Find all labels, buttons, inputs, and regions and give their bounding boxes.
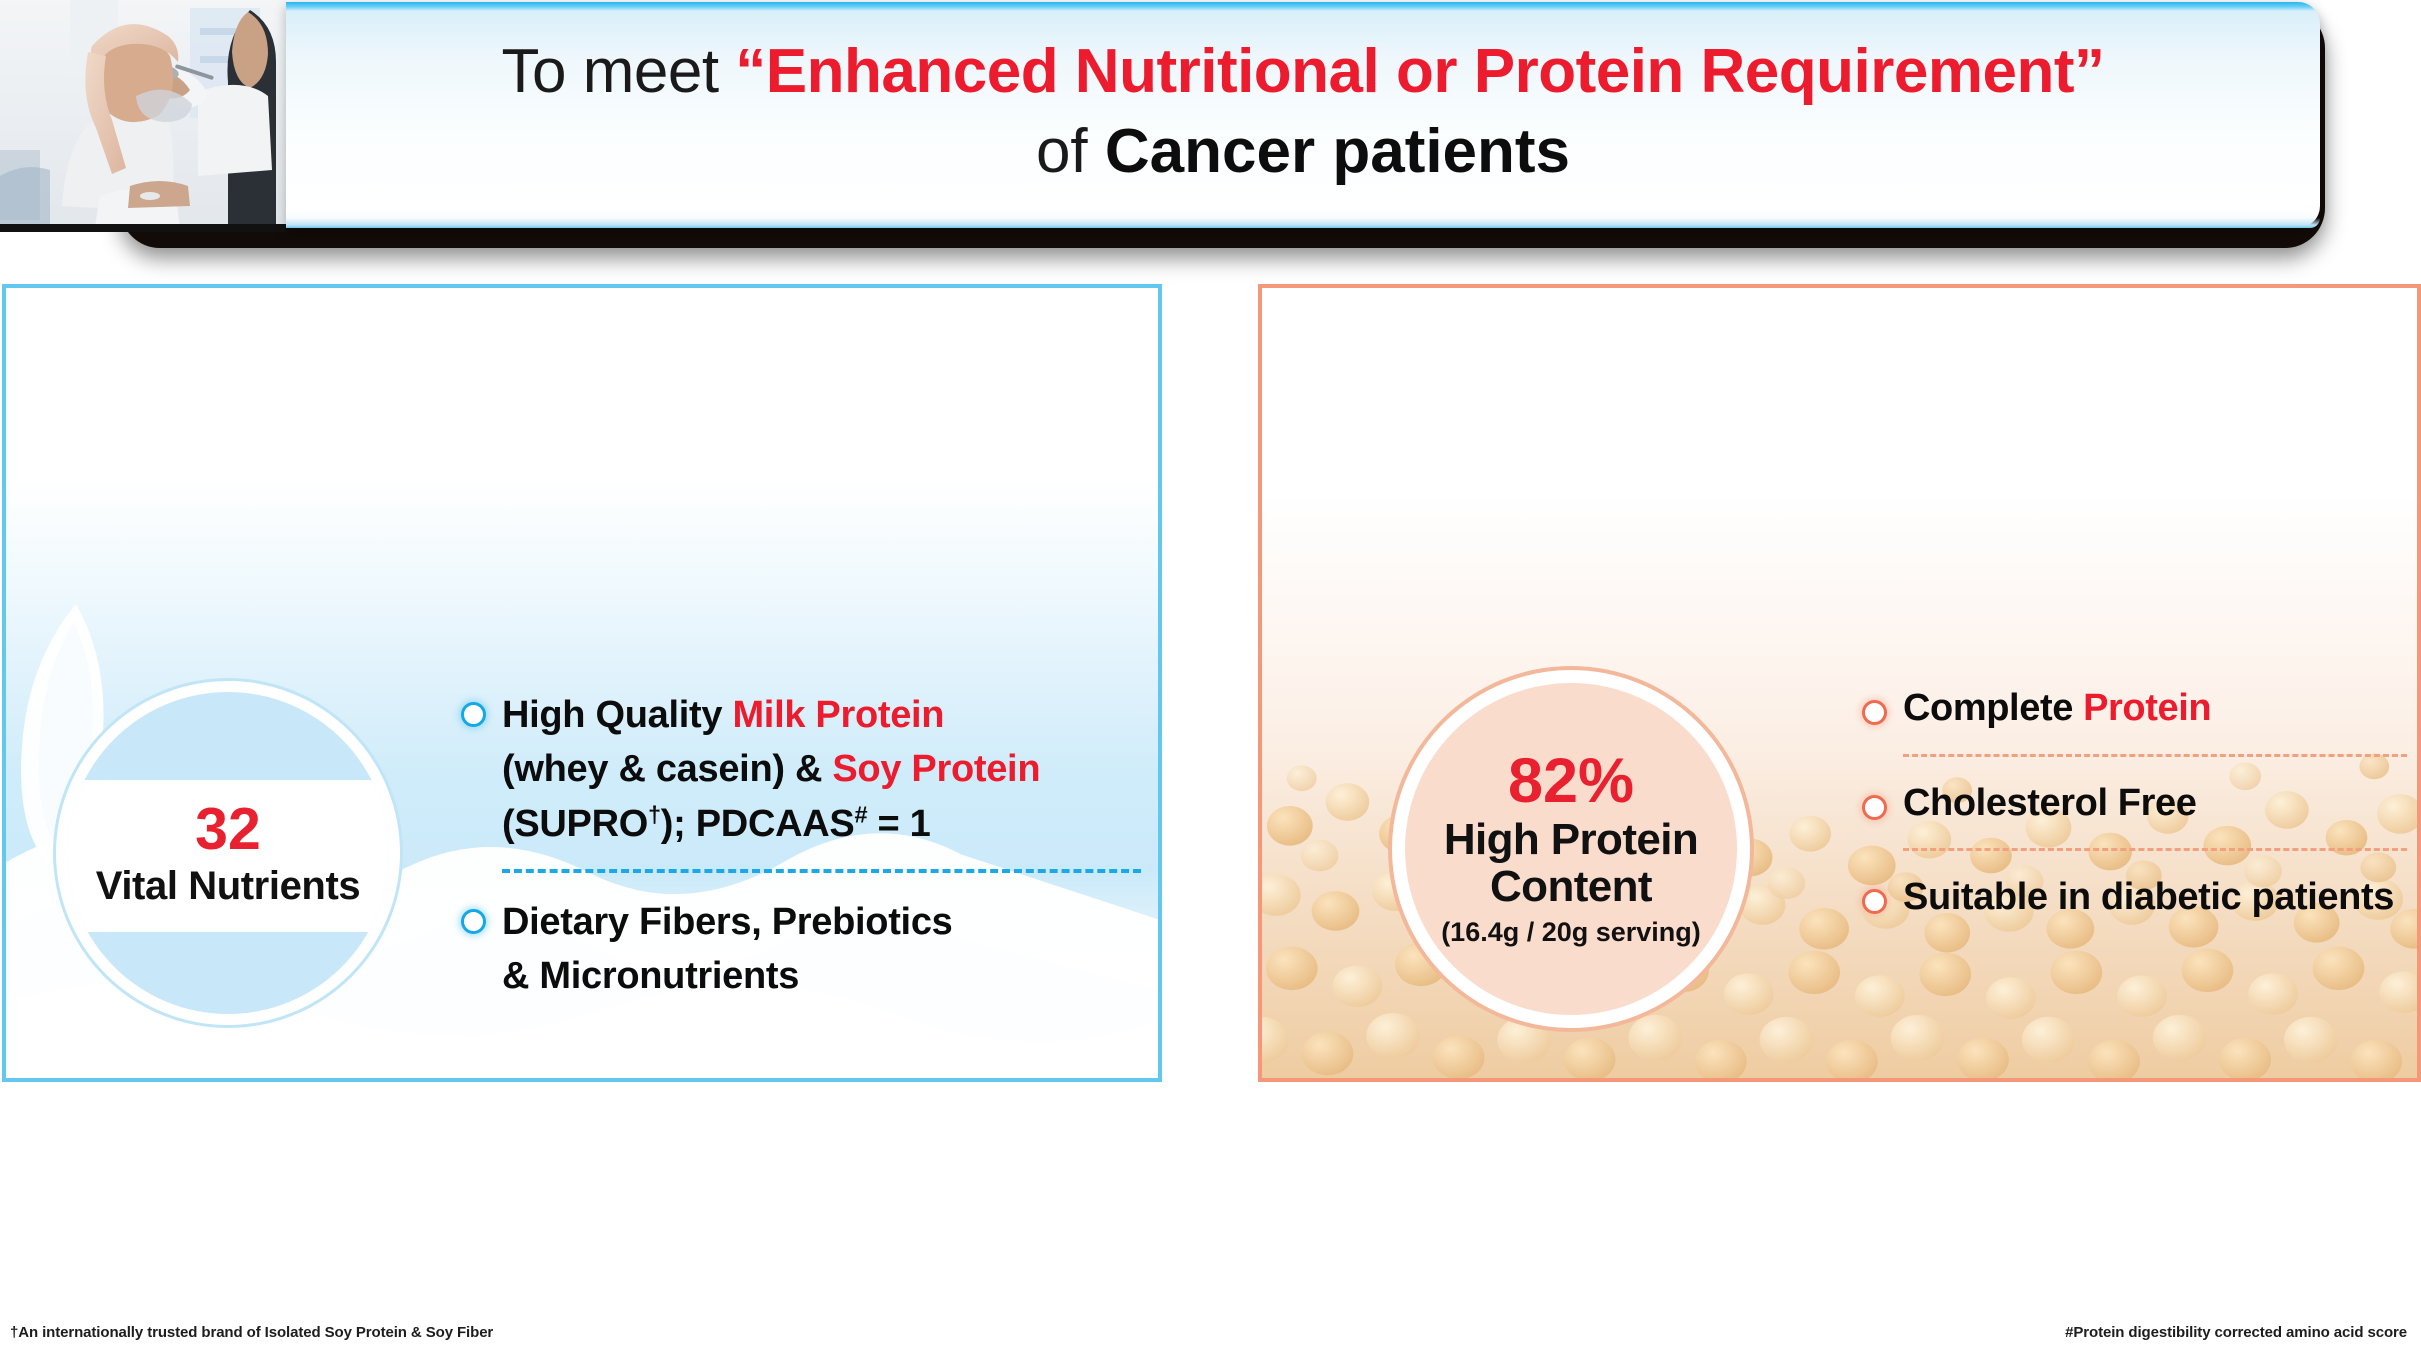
patient-photo-image bbox=[0, 0, 286, 232]
list-item: Suitable in diabetic patients bbox=[1862, 875, 2407, 921]
header-title-banner: To meet “Enhanced Nutritional or Protein… bbox=[286, 2, 2320, 228]
dagger-footnote-marker: † bbox=[648, 801, 661, 827]
circle-bullet-icon bbox=[1862, 700, 1887, 725]
high-protein-badge: 82% High Protein Content (16.4g / 20g se… bbox=[1392, 670, 1750, 1028]
page-title-line-2: of Cancer patients bbox=[1036, 115, 1570, 189]
list-item: Cholesterol Free bbox=[1862, 781, 2407, 827]
title-prefix: To meet bbox=[502, 37, 736, 106]
vital-nutrients-badge: 32 Vital Nutrients bbox=[56, 681, 400, 1025]
slide-root: To meet “Enhanced Nutritional or Protein… bbox=[0, 0, 2421, 1350]
vital-nutrients-count: 32 bbox=[96, 800, 360, 859]
list-item: High Quality Milk Protein (whey & casein… bbox=[461, 688, 1141, 851]
protein-badge-label-2: Content bbox=[1490, 864, 1652, 911]
title-line2-bold: Cancer patients bbox=[1105, 117, 1570, 186]
footnote-dagger: †An internationally trusted brand of Iso… bbox=[10, 1324, 493, 1341]
bullet-divider bbox=[1903, 754, 2407, 757]
title-line2-prefix: of bbox=[1036, 117, 1105, 186]
right-panel-bullet-list: Complete Protein Cholesterol Free Suitab… bbox=[1862, 686, 2407, 921]
patient-photo bbox=[0, 0, 286, 232]
vital-nutrients-label: Vital Nutrients bbox=[96, 865, 360, 907]
left-panel-bullet-list: High Quality Milk Protein (whey & casein… bbox=[461, 688, 1141, 1004]
list-item: Dietary Fibers, Prebiotics & Micronutrie… bbox=[461, 895, 1141, 1004]
header-zone: To meet “Enhanced Nutritional or Protein… bbox=[0, 0, 2421, 265]
page-title-line-1: To meet “Enhanced Nutritional or Protein… bbox=[502, 37, 2105, 106]
circle-bullet-icon bbox=[1862, 889, 1887, 914]
title-highlight: “Enhanced Nutritional or Protein Require… bbox=[735, 37, 2104, 106]
circle-bullet-icon bbox=[1862, 795, 1887, 820]
list-item: Complete Protein bbox=[1862, 686, 2407, 732]
hash-footnote-marker: # bbox=[854, 801, 867, 827]
protein-serving-note: (16.4g / 20g serving) bbox=[1441, 918, 1701, 948]
bullet-text-high-quality-protein: High Quality Milk Protein (whey & casein… bbox=[502, 688, 1040, 851]
protein-badge-label-1: High Protein bbox=[1444, 817, 1698, 864]
circle-bullet-icon bbox=[461, 702, 486, 727]
right-panel-soy-protein: 82% High Protein Content (16.4g / 20g se… bbox=[1258, 284, 2421, 1082]
bullet-divider bbox=[1903, 848, 2407, 851]
bullet-text-complete-protein: Complete Protein bbox=[1903, 686, 2211, 732]
bullet-text-suitable-diabetic: Suitable in diabetic patients bbox=[1903, 875, 2394, 921]
protein-percentage: 82% bbox=[1508, 750, 1634, 813]
circle-bullet-icon bbox=[461, 909, 486, 934]
left-panel-milk-protein: 32 Vital Nutrients High Quality Milk Pro… bbox=[2, 284, 1162, 1082]
bullet-divider bbox=[502, 869, 1141, 873]
bullet-text-cholesterol-free: Cholesterol Free bbox=[1903, 781, 2196, 827]
bullet-text-dietary-fibers: Dietary Fibers, Prebiotics & Micronutrie… bbox=[502, 895, 952, 1004]
footnote-hash: #Protein digestibility corrected amino a… bbox=[2065, 1324, 2407, 1341]
